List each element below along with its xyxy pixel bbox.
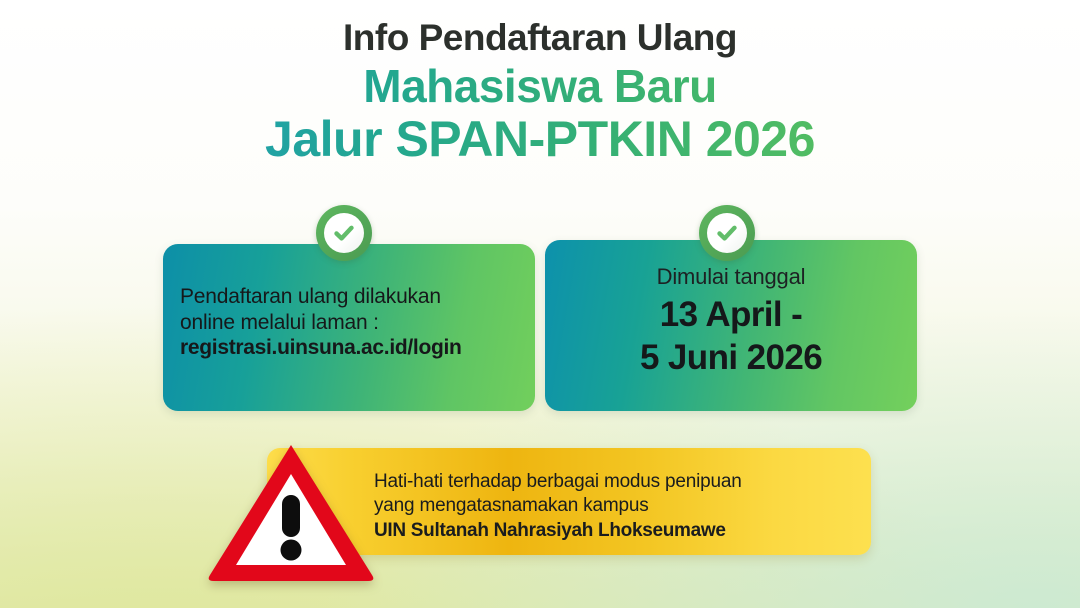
title-line-3: Jalur SPAN-PTKIN 2026 xyxy=(0,111,1080,166)
poster-canvas: Info Pendaftaran Ulang Mahasiswa Baru Ja… xyxy=(0,0,1080,608)
date-value-line-2: 5 Juni 2026 xyxy=(559,337,903,380)
check-circle-icon-registration xyxy=(316,205,372,261)
warning-institution-name: UIN Sultanah Nahrasiyah Lhokseumawe xyxy=(374,519,851,543)
warning-triangle-icon xyxy=(206,441,376,581)
date-value-line-1: 13 April - xyxy=(559,294,903,337)
title-line-1: Info Pendaftaran Ulang xyxy=(0,18,1080,60)
title-line-2: Mahasiswa Baru xyxy=(0,60,1080,111)
date-label: Dimulai tanggal xyxy=(559,264,903,294)
check-badge-inner xyxy=(324,213,364,253)
check-badge-inner xyxy=(707,213,747,253)
registration-info-card: Pendaftaran ulang dilakukan online melal… xyxy=(163,244,535,411)
registration-line-2: online melalui laman : xyxy=(180,310,519,336)
registration-line-1: Pendaftaran ulang dilakukan xyxy=(180,284,519,310)
date-info-card: Dimulai tanggal 13 April - 5 Juni 2026 xyxy=(545,240,917,411)
registration-url[interactable]: registrasi.uinsuna.ac.id/login xyxy=(180,335,519,361)
title-block: Info Pendaftaran Ulang Mahasiswa Baru Ja… xyxy=(0,18,1080,166)
warning-line-2: yang mengatasnamakan kampus xyxy=(374,494,851,518)
warning-line-1: Hati-hati terhadap berbagai modus penipu… xyxy=(374,470,851,494)
check-circle-icon-date xyxy=(699,205,755,261)
